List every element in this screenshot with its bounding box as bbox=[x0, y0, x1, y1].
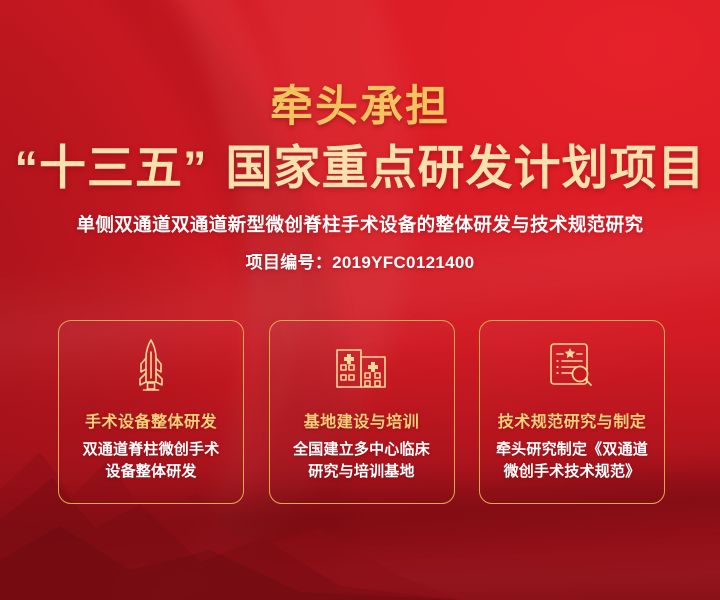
feature-card-equipment[interactable]: 手术设备整体研发 双通道脊柱微创手术 设备整体研发 bbox=[58, 320, 244, 504]
rocket-icon bbox=[134, 338, 168, 394]
card-title: 基地建设与培训 bbox=[304, 408, 420, 432]
card-description-line-1: 全国建立多中心临床 bbox=[293, 439, 430, 461]
card-description-line-2: 设备整体研发 bbox=[83, 461, 220, 483]
card-description-line-2: 研究与培训基地 bbox=[293, 461, 430, 483]
promo-banner: 牵头承担 “十三五”国家重点研发计划项目 单侧双通道双通道新型微创脊柱手术设备的… bbox=[0, 0, 720, 600]
card-title: 手术设备整体研发 bbox=[85, 408, 217, 432]
project-number: 项目编号：2019YFC0121400 bbox=[0, 248, 720, 273]
card-description: 牵头研究制定《双通道 微创手术技术规范》 bbox=[488, 439, 656, 483]
card-description: 双通道脊柱微创手术 设备整体研发 bbox=[75, 439, 228, 483]
page-title: 牵头承担 bbox=[0, 82, 720, 132]
feature-card-training-base[interactable]: 基地建设与培训 全国建立多中心临床 研究与培训基地 bbox=[269, 320, 455, 504]
page-subtitle-rest: 国家重点研发计划项目 bbox=[226, 141, 706, 194]
feature-card-list: 手术设备整体研发 双通道脊柱微创手术 设备整体研发 基地建设与培训 bbox=[58, 320, 665, 504]
page-subtitle: “十三五”国家重点研发计划项目 bbox=[0, 140, 720, 196]
hospital-building-icon bbox=[335, 338, 389, 394]
project-description: 单侧双通道双通道新型微创脊柱手术设备的整体研发与技术规范研究 bbox=[0, 211, 720, 237]
page-subtitle-quoted: “十三五” bbox=[15, 141, 208, 194]
feature-card-standards[interactable]: 技术规范研究与制定 牵头研究制定《双通道 微创手术技术规范》 bbox=[479, 320, 665, 504]
document-search-icon bbox=[548, 338, 596, 394]
card-description-line-2: 微创手术技术规范》 bbox=[496, 461, 648, 483]
card-title: 技术规范研究与制定 bbox=[498, 408, 647, 432]
card-description-line-1: 双通道脊柱微创手术 bbox=[83, 439, 220, 461]
card-description: 全国建立多中心临床 研究与培训基地 bbox=[285, 439, 438, 483]
card-description-line-1: 牵头研究制定《双通道 bbox=[496, 439, 648, 461]
headline-block: 牵头承担 “十三五”国家重点研发计划项目 bbox=[0, 82, 720, 196]
